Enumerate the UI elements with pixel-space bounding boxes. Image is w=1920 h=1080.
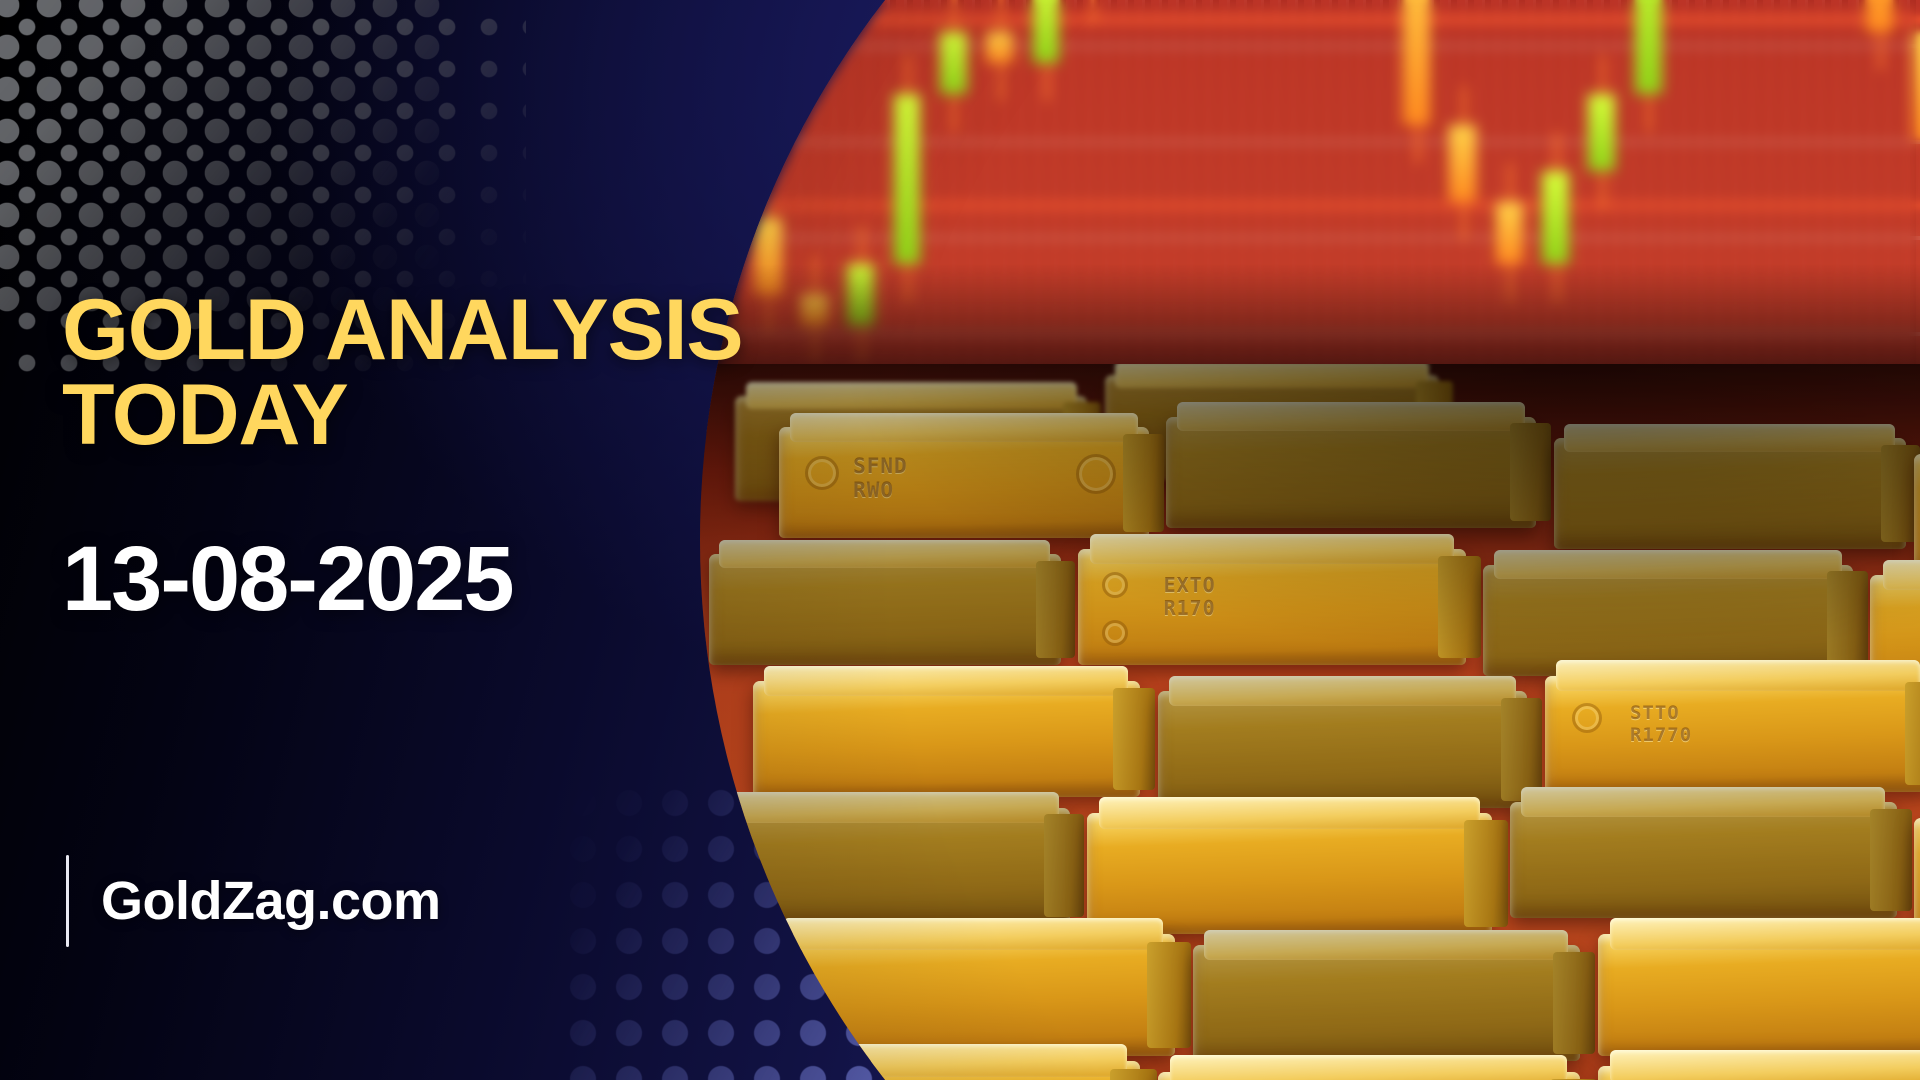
brand-name[interactable]: GoldZag.com <box>101 870 441 932</box>
gold-bar <box>1158 691 1528 807</box>
gold-bar <box>753 681 1140 797</box>
bar-engraving-text: EXTO R170 <box>1164 574 1451 620</box>
gold-photo-circle: SFND RWO STTD EXTO R170 <box>700 0 1920 1080</box>
brand-row: GoldZag.com <box>66 855 441 947</box>
gold-bar <box>1193 945 1580 1061</box>
headline-line-2: TODAY <box>62 373 752 458</box>
page-title: GOLD ANALYSIS TODAY <box>62 288 752 458</box>
gold-analysis-banner: SFND RWO STTD EXTO R170 <box>0 0 1920 1080</box>
gold-bar <box>1166 417 1536 528</box>
text-column: GOLD ANALYSIS TODAY 13-08-2025 GoldZag.c… <box>62 0 762 1080</box>
gold-bars-stack: SFND RWO STTD EXTO R170 <box>700 364 1920 1080</box>
bar-stamp-ring <box>1102 620 1128 646</box>
gold-bar <box>718 1061 1140 1080</box>
gold-bar-engraved-1: SFND RWO <box>779 427 1149 538</box>
bar-stamp-ring <box>1572 703 1602 733</box>
gold-bar-engraved-3: STTO R1770 <box>1545 676 1920 792</box>
gold-bar <box>1598 1066 1920 1080</box>
gold-photo: SFND RWO STTD EXTO R170 <box>700 0 1920 1080</box>
gold-bar <box>1598 934 1920 1055</box>
gold-bar <box>1483 565 1853 676</box>
gold-bar <box>1087 813 1492 934</box>
bar-stamp-ring <box>805 456 839 490</box>
gold-bar <box>1158 1072 1580 1080</box>
bar-stamp-ring <box>1102 572 1128 598</box>
gold-bar-engraved-2: EXTO R170 <box>1078 549 1465 665</box>
headline-line-1: GOLD ANALYSIS <box>62 282 742 378</box>
date-label: 13-08-2025 <box>62 533 513 625</box>
bar-engraving-text: STTO R1770 <box>1630 703 1917 747</box>
bar-stamp-ring <box>1076 454 1116 494</box>
gold-bar <box>1554 438 1906 549</box>
gold-bar <box>1510 802 1897 918</box>
gold-bar <box>770 934 1175 1055</box>
brand-divider <box>66 855 69 947</box>
gold-bar-engraved-4: STTD <box>1914 454 1920 570</box>
